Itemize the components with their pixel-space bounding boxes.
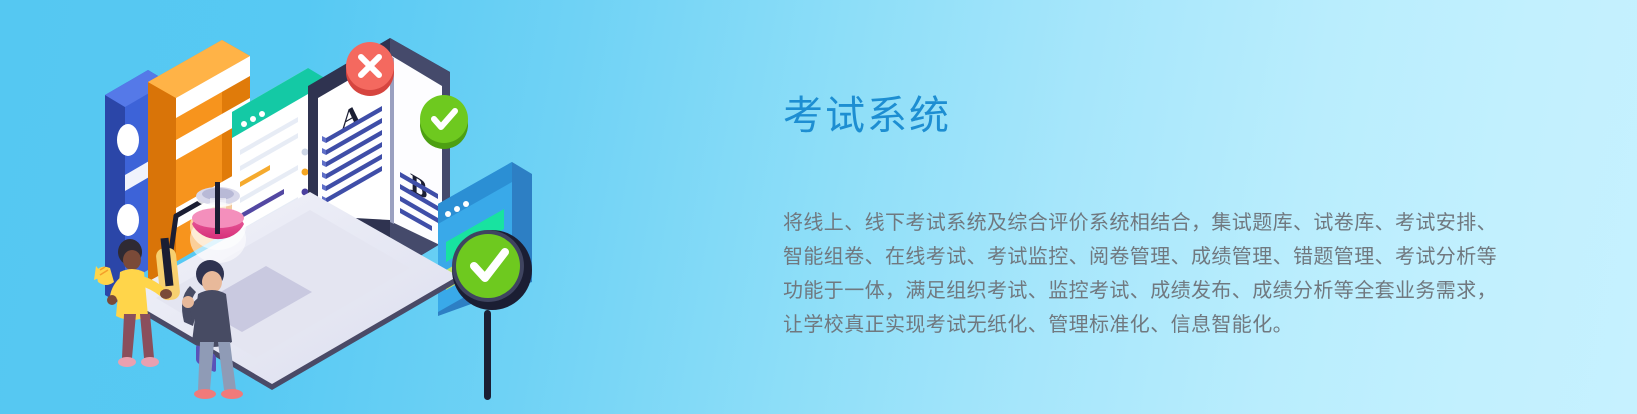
banner-text-block: 考试系统 将线上、线下考试系统及综合评价系统相结合，集试题库、试卷库、考试安排、… — [783, 88, 1483, 342]
description-line: 让学校真正实现考试无纸化、管理标准化、信息智能化。 — [783, 308, 1473, 342]
description-line: 智能组卷、在线考试、考试监控、阅卷管理、成绩管理、错题管理、考试分析等 — [783, 240, 1473, 274]
green-check-badge-icon — [420, 95, 468, 149]
exam-system-illustration: A B — [60, 20, 580, 400]
description-line: 将线上、线下考试系统及综合评价系统相结合，集试题库、试卷库、考试安排、 — [783, 206, 1473, 240]
description-line: 功能于一体，满足组织考试、监控考试、成绩发布、成绩分析等全套业务需求， — [783, 274, 1473, 308]
page-title: 考试系统 — [783, 88, 1483, 144]
magnifier-check-icon — [452, 230, 532, 400]
exam-system-banner: A B — [0, 0, 1637, 414]
red-cross-badge-icon — [346, 42, 394, 96]
page-description: 将线上、线下考试系统及综合评价系统相结合，集试题库、试卷库、考试安排、 智能组卷… — [783, 206, 1473, 342]
